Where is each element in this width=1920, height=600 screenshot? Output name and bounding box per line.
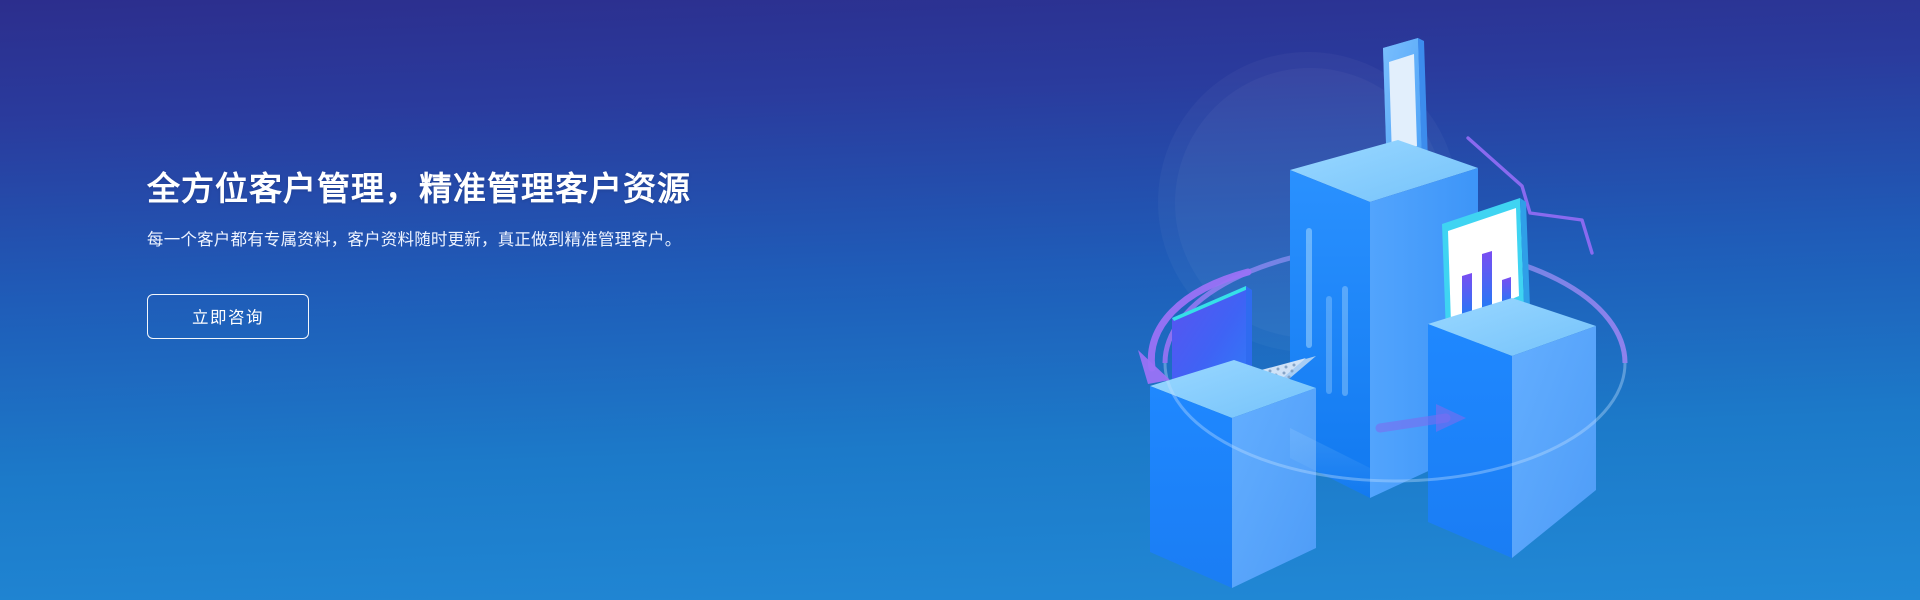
hero-copy-block: 全方位客户管理，精准管理客户资源 每一个客户都有专属资料，客户资料随时更新，真正… xyxy=(147,168,767,339)
hero-illustration xyxy=(1130,28,1690,588)
hero-banner: 全方位客户管理，精准管理客户资源 每一个客户都有专属资料，客户资料随时更新，真正… xyxy=(0,0,1920,600)
pillar-right xyxy=(1428,198,1596,558)
consult-now-button[interactable]: 立即咨询 xyxy=(147,294,309,339)
cta-container: 立即咨询 xyxy=(147,294,767,339)
hero-subtitle: 每一个客户都有专属资料，客户资料随时更新，真正做到精准管理客户。 xyxy=(147,227,743,254)
page-title: 全方位客户管理，精准管理客户资源 xyxy=(147,168,767,209)
